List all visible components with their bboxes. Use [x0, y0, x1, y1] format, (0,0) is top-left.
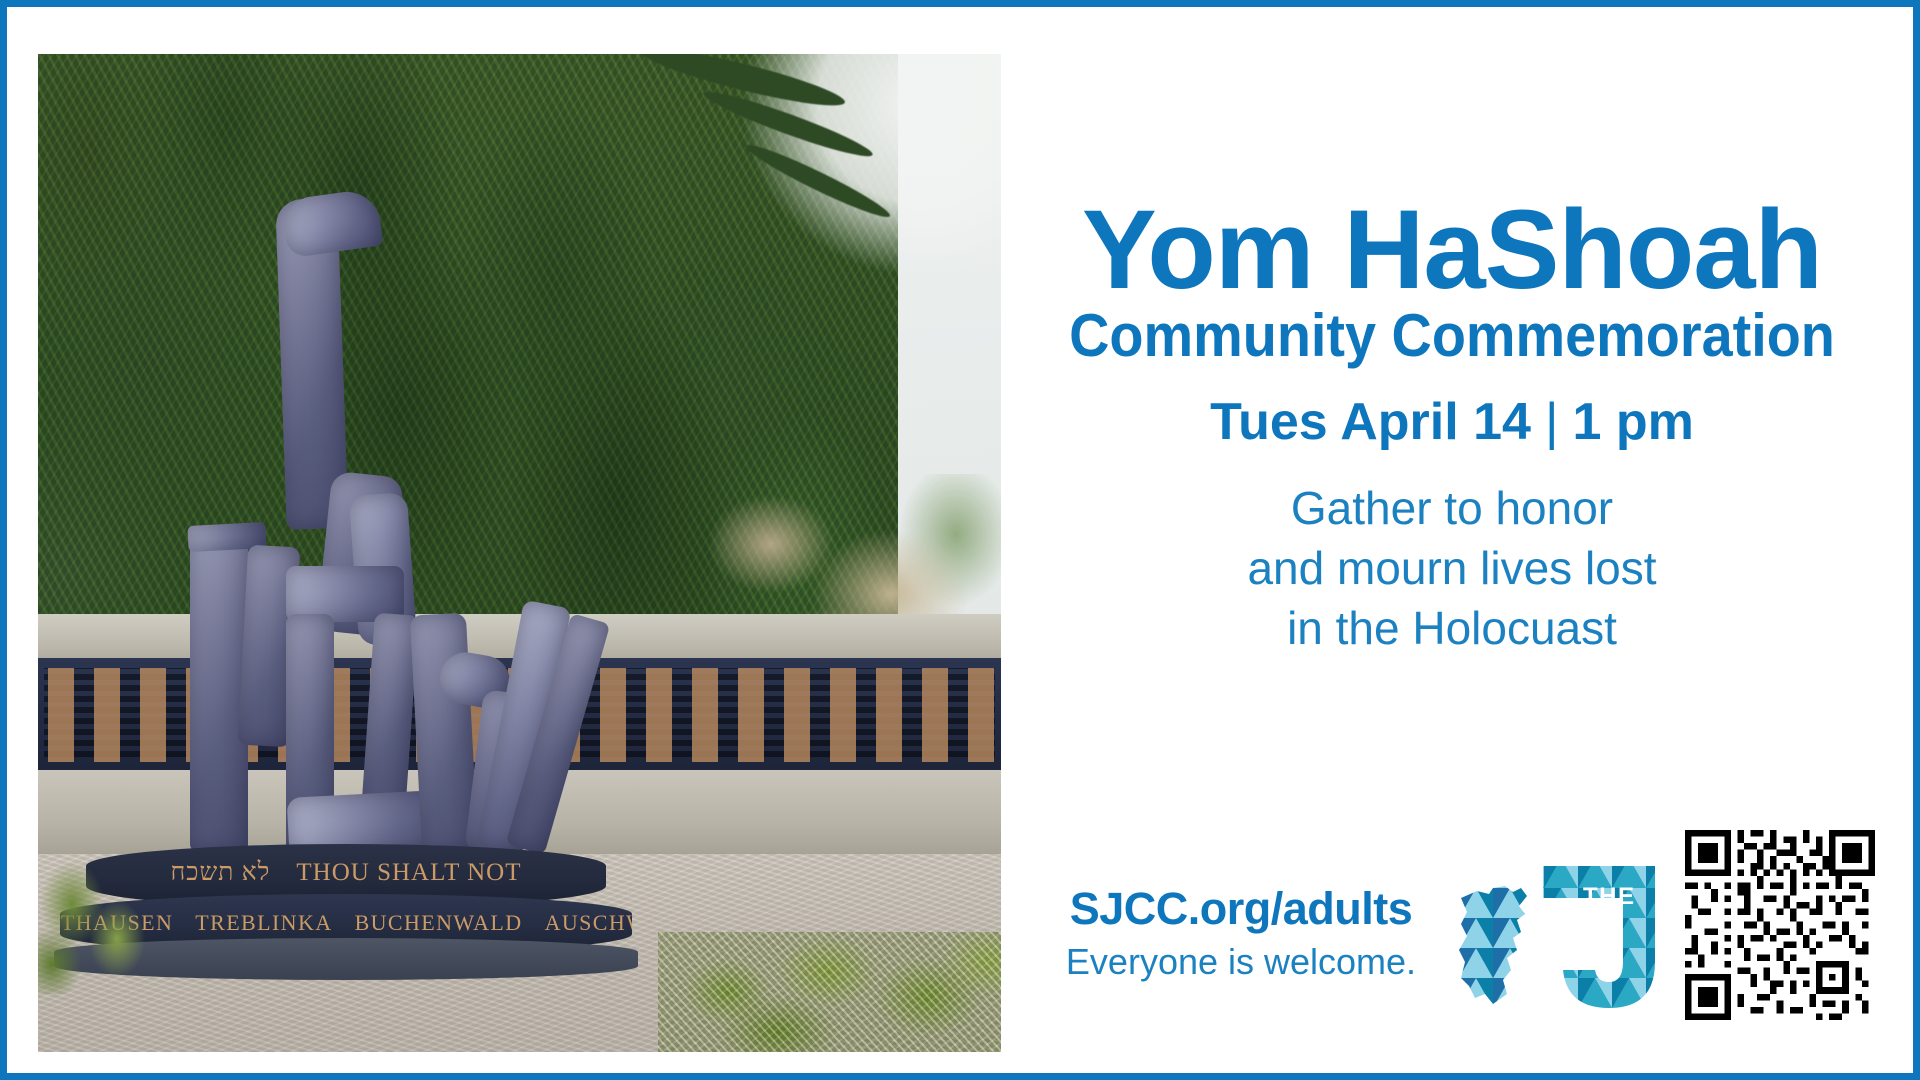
footer-area: SJCC.org/adults Everyone is welcome. [1007, 837, 1897, 1042]
letter-j-shape [1539, 858, 1664, 1018]
content-panel: Yom HaShoah Community Commemoration Tues… [1007, 54, 1897, 1052]
plinth-inscription-hebrew: לא תשכח [170, 859, 270, 887]
description-line: in the Holocuast [1002, 599, 1902, 659]
left-shrub [38, 844, 152, 994]
description-line: Gather to honor [1002, 479, 1902, 539]
event-description: Gather to honor and mourn lives lost in … [1002, 479, 1902, 658]
welcome-note: Everyone is welcome. [1021, 939, 1461, 984]
event-time: 1 pm [1572, 393, 1693, 451]
flyer-canvas: לא תשכח THOU SHALT NOT MAUTHAUSEN TREBLI… [0, 0, 1920, 1080]
qr-code[interactable] [1685, 830, 1875, 1020]
plinth-inscription: לא תשכח THOU SHALT NOT [86, 852, 606, 894]
the-j-logo: THE [1459, 858, 1689, 1028]
plinth-inscription-english: THOU SHALT NOT [296, 859, 521, 887]
event-title: Yom HaShoah [1002, 194, 1902, 306]
url-block: SJCC.org/adults Everyone is welcome. [1021, 884, 1461, 985]
camp-name: BUCHENWALD [355, 910, 523, 936]
website-link[interactable]: SJCC.org/adults [1021, 884, 1461, 934]
memorial-photo: לא תשכח THOU SHALT NOT MAUTHAUSEN TREBLI… [38, 54, 1001, 1052]
datetime-separator: | [1531, 393, 1573, 451]
foreground-bush [658, 932, 1001, 1052]
logo-the-text: THE [1583, 883, 1636, 910]
washington-state-shape [1459, 878, 1539, 1018]
camp-name: AUSCHWITZ [545, 910, 632, 936]
event-date: Tues April 14 [1210, 393, 1531, 451]
camp-name: TREBLINKA [195, 910, 332, 936]
event-subtitle: Community Commemoration [1034, 304, 1871, 367]
event-datetime: Tues April 14|1 pm [1002, 394, 1902, 451]
sculpture-bar-left [190, 532, 248, 852]
description-line: and mourn lives lost [1002, 539, 1902, 599]
